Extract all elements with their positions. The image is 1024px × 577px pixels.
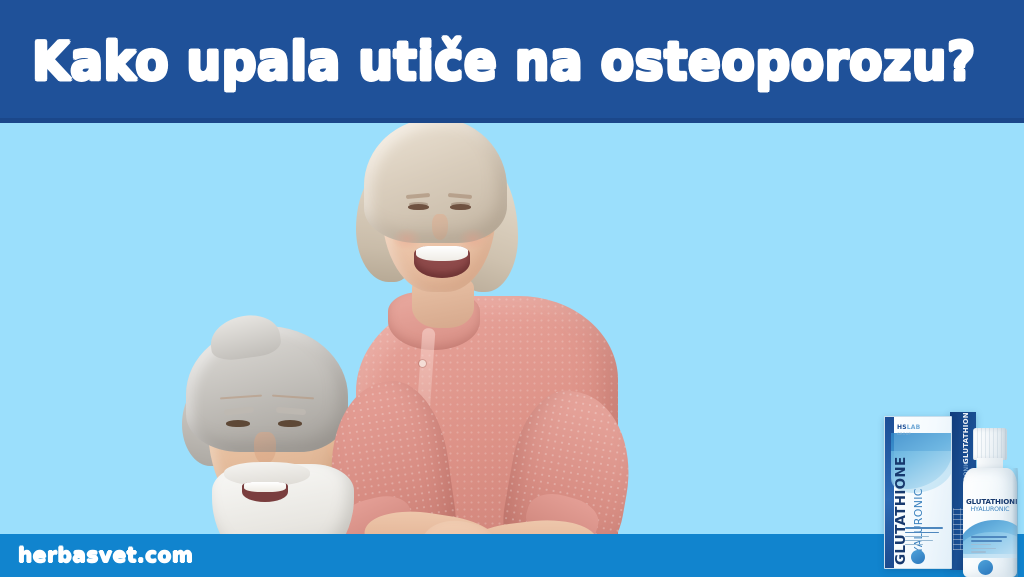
bottle-label-title: GLUTATHIONE	[966, 497, 1014, 506]
elderly-couple-photo	[120, 110, 680, 577]
bottle-body: GLUTATHIONE HYALURONIC	[963, 468, 1017, 577]
hs-lab-logo: HSLAB	[897, 425, 920, 431]
page-title: Kako upala utiče na osteoporozu?	[32, 28, 1024, 97]
bottle-seal-icon	[978, 560, 993, 575]
woman-smile	[414, 246, 470, 278]
product-bottle: GLUTATHIONE HYALURONIC	[962, 428, 1018, 577]
bottle-label-subtitle: HYALURONIC	[966, 506, 1014, 513]
woman-eye-right	[450, 204, 471, 210]
product-carton-box: HSLAB GROUP GLUTATHIONE HYALURONIC	[884, 416, 952, 569]
woman-teeth	[416, 246, 468, 261]
site-watermark: herbasvet.com	[18, 543, 193, 567]
woman-eye-left	[408, 204, 429, 210]
man-eye-right	[278, 420, 302, 427]
man-nose	[254, 432, 276, 464]
product-box-seal-icon	[911, 550, 925, 564]
hs-logo-text: HS	[897, 424, 907, 431]
header-banner: Kako upala utiče na osteoporozu?	[0, 0, 1024, 123]
man-eye-left	[226, 420, 250, 427]
bottle-label-fineprint	[971, 536, 1007, 555]
man-smile	[242, 482, 288, 502]
hs-lab-logo-sub: GROUP	[897, 432, 911, 436]
product-packshot[interactable]: GLUTATHIONE HYALURONIC HSLAB GROUP GLUTA…	[866, 408, 1024, 577]
man-teeth	[244, 482, 286, 492]
poster-stage: GLUTATHIONE HYALURONIC HSLAB GROUP GLUTA…	[0, 0, 1024, 577]
bottle-cap	[973, 428, 1007, 460]
bottle-edge-shading	[1012, 468, 1018, 577]
product-box-fineprint	[905, 527, 945, 548]
bottle-cap-ribs	[973, 428, 1007, 460]
lab-logo-text: LAB	[907, 424, 921, 431]
woman-nose	[432, 214, 448, 240]
product-box-title: GLUTATHIONE	[893, 456, 909, 565]
woman-shirt-button	[419, 360, 426, 367]
